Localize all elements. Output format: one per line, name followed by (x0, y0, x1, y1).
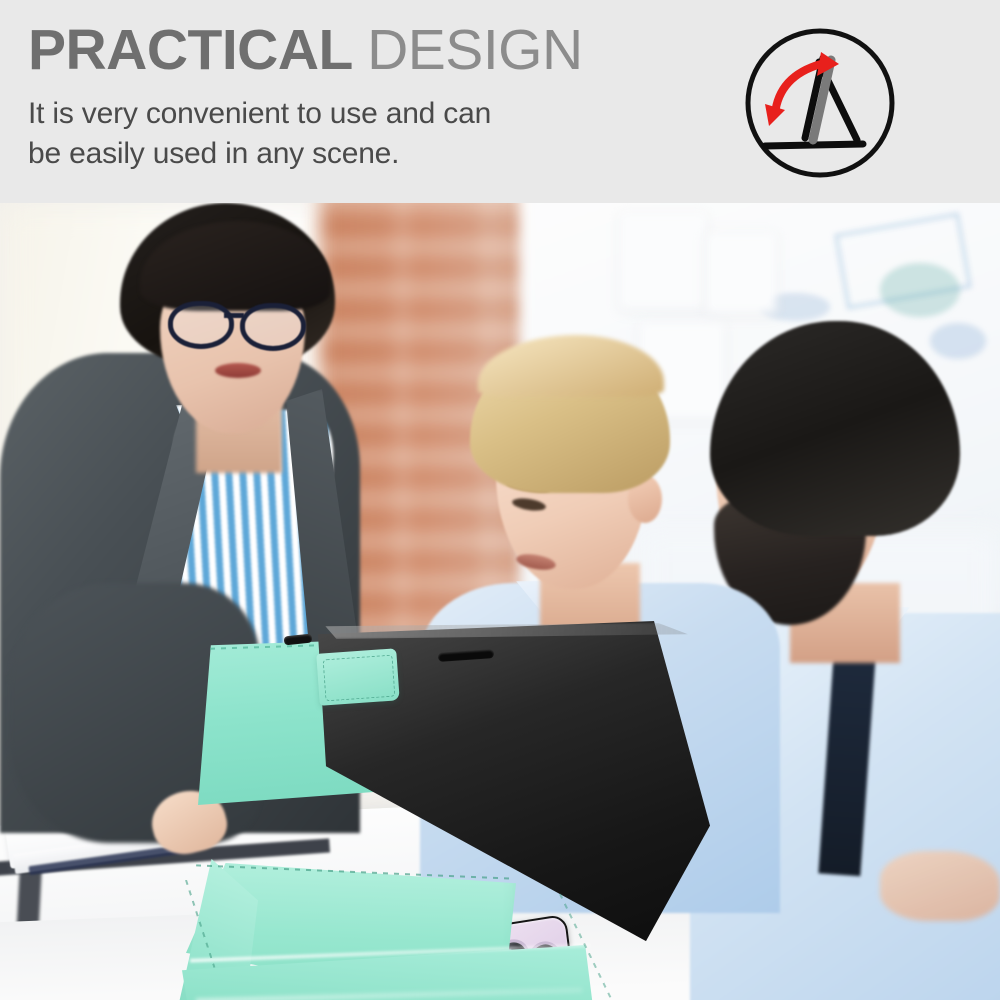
headline-light-word: DESIGN (367, 18, 583, 82)
adjustable-kickstand-icon (735, 18, 905, 188)
header-band: PRACTICAL DESIGN It is very convenient t… (0, 0, 1000, 203)
page-subtitle: It is very convenient to use and can be … (28, 94, 688, 174)
phone-case-product (0, 203, 1000, 1000)
headline-strong-word: PRACTICAL (28, 18, 352, 82)
lifestyle-photo (0, 203, 1000, 1000)
subtitle-line-1: It is very convenient to use and can (28, 94, 688, 134)
closure-tab-stitching (323, 655, 396, 702)
header-text-block: PRACTICAL DESIGN It is very convenient t… (28, 18, 688, 174)
page-title: PRACTICAL DESIGN (28, 18, 688, 82)
product-marketing-image: PRACTICAL DESIGN It is very convenient t… (0, 0, 1000, 1000)
subtitle-line-2: be easily used in any scene. (28, 134, 688, 174)
